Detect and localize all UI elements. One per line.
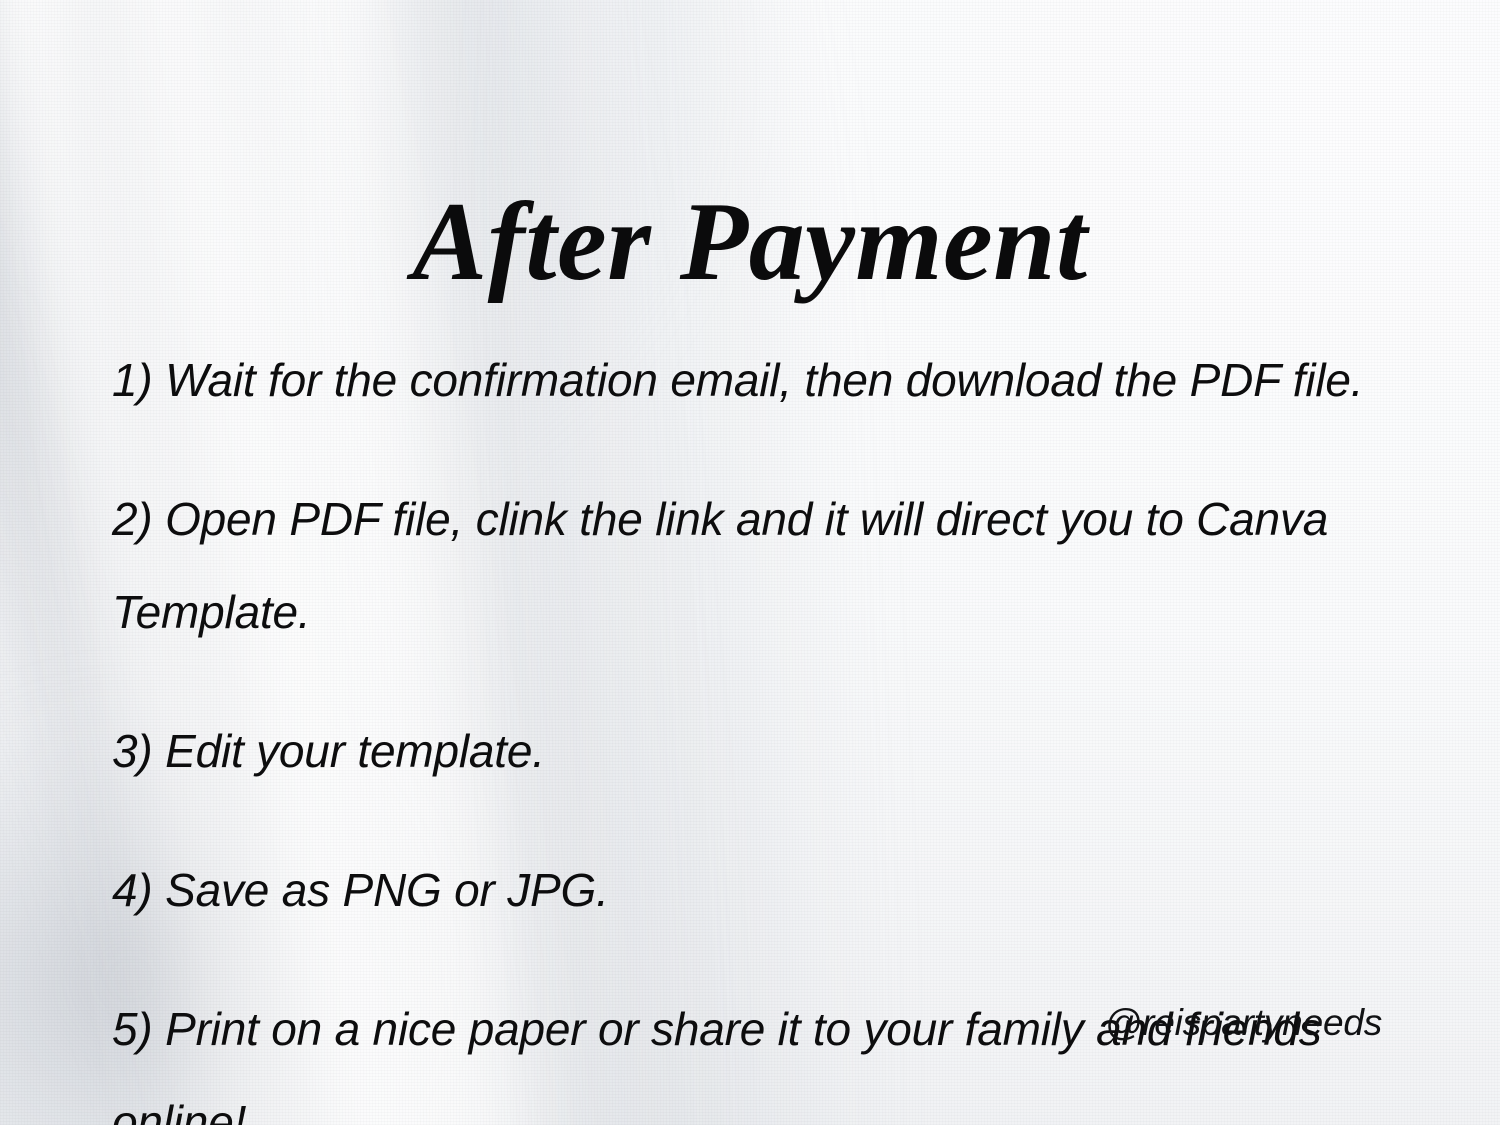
instruction-step-3: 3) Edit your template. bbox=[112, 705, 1432, 798]
instruction-list: 1) Wait for the confirmation email, then… bbox=[112, 288, 1432, 1125]
after-payment-slide: After Payment 1) Wait for the confirmati… bbox=[0, 0, 1500, 1125]
instruction-step-2: 2) Open PDF file, clink the link and it … bbox=[112, 473, 1432, 659]
instruction-step-4: 4) Save as PNG or JPG. bbox=[112, 844, 1432, 937]
instruction-step-1: 1) Wait for the confirmation email, then… bbox=[112, 334, 1432, 427]
page-title: After Payment bbox=[0, 183, 1500, 302]
watermark-handle: @reispartyneeds bbox=[1105, 1004, 1382, 1041]
